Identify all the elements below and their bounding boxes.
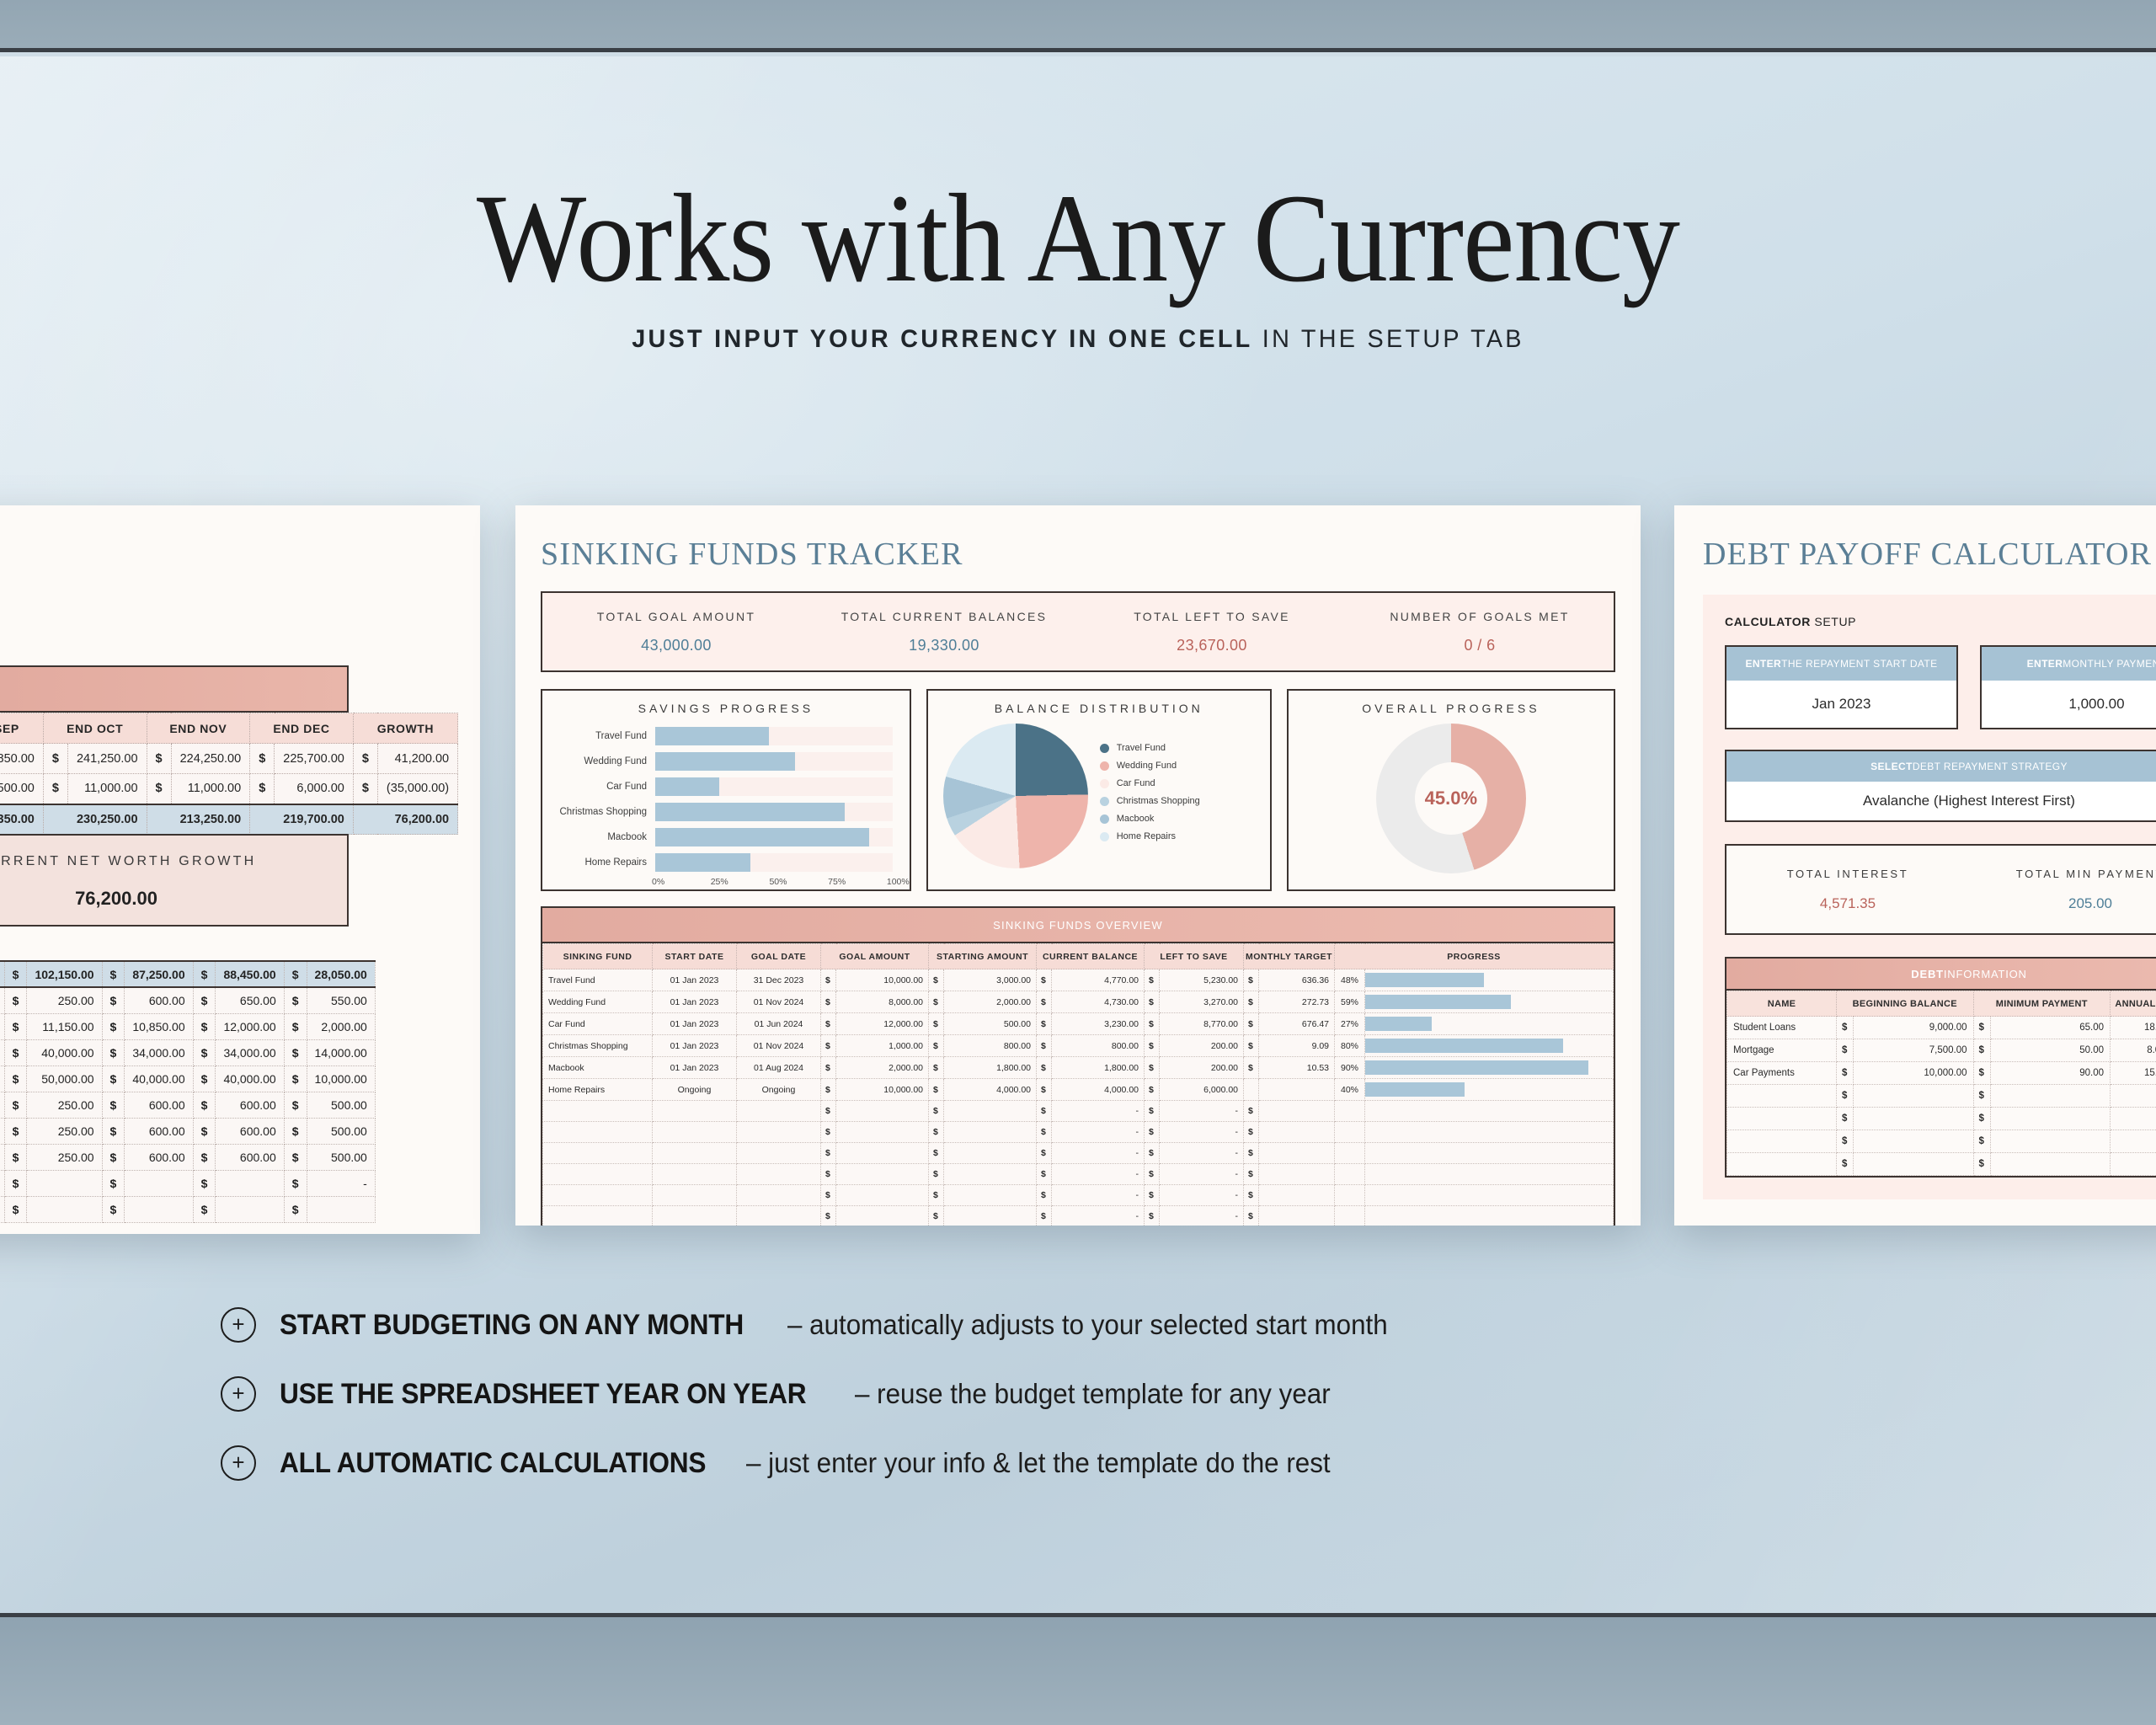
debt-header-row: NAMEBEGINNING BALANCEMINIMUM PAYMENTANNU… [1727,991,2156,1017]
cell-goal-amount: 8,000.00 [836,991,929,1013]
stat-value: 23,670.00 [1078,637,1346,654]
net-worth-growth-box: CURRENT NET WORTH GROWTH 76,200.00 [0,834,349,927]
debt-information-banner: DEBT INFORMATION [1726,959,2156,991]
table-row-empty: $$ [1727,1108,2156,1130]
cell-goal-amount: 1,000.00 [836,1035,929,1057]
table-row-empty: $$$-$-$ [543,1185,1614,1206]
legend-label: Wedding Fund [1117,761,1177,771]
calculator-setup-label: CALCULATOR SETUP [1725,615,2156,628]
column-header: LEFT TO SAVE [1145,944,1244,969]
charts-row: SAVINGS PROGRESS Travel FundWedding Fund… [541,689,1615,891]
cell-start-date: Ongoing [653,1079,737,1101]
bar-fill [655,727,769,745]
cell-name: Car Payments [1727,1062,1837,1085]
bar-label: Macbook [554,832,655,842]
column-header: GROWTH [353,713,457,744]
bar-label: Wedding Fund [554,756,655,766]
stat-label: TOTAL LEFT TO SAVE [1078,610,1346,623]
sinking-funds-panel: SINKING FUNDS TRACKER TOTAL GOAL AMOUNT4… [515,505,1641,1226]
table-row: 00$$$$$- [0,1170,375,1196]
cell-fund: Macbook [543,1057,653,1079]
debt-banner-bold: DEBT [1911,968,1944,980]
cell-start-date: 01 Jan 2023 [653,969,737,991]
cell-monthly: 676.47 [1259,1013,1335,1035]
cell-fund: Home Repairs [543,1079,653,1101]
bar-fill [655,752,795,771]
bar-row: Macbook [554,826,893,848]
bar-fill [655,853,750,872]
bottom-band [0,1613,2156,1725]
strategy-header: SELECT DEBT REPAYMENT STRATEGY [1726,751,2156,782]
field-label: ENTER MONTHLY PAYMENT [1982,647,2156,681]
column-header: ANNUAL INTEREST [2111,991,2156,1017]
page-title: Works with Any Currency [86,175,2069,302]
cell-start-date: 01 Jan 2023 [653,991,737,1013]
cell-current: 1,800.00 [1052,1057,1145,1079]
column-header: PROGRESS [1335,944,1614,969]
table-row: $00$221,850.00$241,250.00$224,250.00$225… [0,744,458,774]
cell-fund: Travel Fund [543,969,653,991]
stat-value: 19,330.00 [810,637,1078,654]
cell-name: Student Loans [1727,1017,1837,1039]
legend-label: Car Fund [1117,778,1155,788]
table-row: 00$38,000.00$40,000.00$34,000.00$34,000.… [0,1039,375,1065]
feature-description: – reuse the budget template for any year [855,1378,1331,1410]
feature-description: – automatically adjusts to your selected… [787,1309,1388,1341]
axis-tick: 75% [828,877,887,887]
bar-track [655,727,893,745]
stat-label: TOTAL GOAL AMOUNT [542,610,810,623]
cell-goal-amount: 2,000.00 [836,1057,929,1079]
cell-progress-bar [1365,969,1614,991]
cell-balance: 7,500.00 [1854,1039,1974,1062]
sinking-funds-stats: TOTAL GOAL AMOUNT43,000.00TOTAL CURRENT … [541,591,1615,672]
field-value[interactable]: 1,000.00 [1982,681,2156,728]
column-header: START DATE [653,944,737,969]
cell-minimum: 50.00 [1990,1039,2111,1062]
cell-progress-bar [1365,1035,1614,1057]
subtitle-rest: IN THE SETUP TAB [1253,325,1524,353]
subtitle-bold: JUST INPUT YOUR CURRENCY IN ONE CELL [632,325,1252,353]
plus-circle-icon: + [221,1307,256,1343]
axis-tick: 50% [769,877,828,887]
debt-totals: TOTAL INTEREST4,571.35TOTAL MIN PAYMENT2… [1725,844,2156,935]
table-row-empty: $$$-$-$ [543,1143,1614,1164]
cell-goal-amount: 12,000.00 [836,1013,929,1035]
cell-progress-pct: 59% [1335,991,1365,1013]
cell-minimum: 90.00 [1990,1062,2111,1085]
cell-name: Mortgage [1727,1039,1837,1062]
cell-goal-date: 01 Aug 2024 [737,1057,821,1079]
cell-goal-date: 31 Dec 2023 [737,969,821,991]
cell-progress-bar [1365,1013,1614,1035]
bar-row: Christmas Shopping [554,801,893,823]
table-row-empty: $$$-$-$ [543,1164,1614,1185]
legend-swatch [1100,744,1109,753]
cell-goal-date: 01 Nov 2024 [737,991,821,1013]
cell-goal-date: 01 Jun 2024 [737,1013,821,1035]
table-row: Macbook01 Jan 202301 Aug 2024$2,000.00$1… [543,1057,1614,1079]
cell-interest: 18.00% [2111,1017,2156,1039]
stat-value: 0 / 6 [1346,637,1614,654]
bar-fill [655,777,719,796]
column-header: STARTING AMOUNT [929,944,1037,969]
table-row-empty: $$ [1727,1153,2156,1176]
table-row-empty: $$ [1727,1130,2156,1153]
stat-card: TOTAL GOAL AMOUNT43,000.00 [542,610,810,654]
cell-current: 3,230.00 [1052,1013,1145,1035]
cell-left: 200.00 [1160,1057,1244,1079]
total-card: TOTAL INTEREST4,571.35 [1726,868,1969,912]
table-row: Mortgage$7,500.00$50.008.00% [1727,1039,2156,1062]
table-row: Christmas Shopping01 Jan 202301 Nov 2024… [543,1035,1614,1057]
total-value: 205.00 [1969,895,2156,912]
growth-value: 76,200.00 [0,888,347,910]
table-row: 00$200.00$250.00$600.00$600.00$500.00 [0,1092,375,1118]
cell-left: 8,770.00 [1160,1013,1244,1035]
cell-fund: Car Fund [543,1013,653,1035]
cell-starting: 2,000.00 [944,991,1037,1013]
bar-track [655,803,893,821]
cell-monthly: 9.09 [1259,1035,1335,1057]
cell-left: 200.00 [1160,1035,1244,1057]
bar-track [655,752,893,771]
cell-monthly: 10.53 [1259,1057,1335,1079]
debt-table: NAMEBEGINNING BALANCEMINIMUM PAYMENTANNU… [1726,991,2156,1176]
cell-progress-pct: 80% [1335,1035,1365,1057]
feature-item: +ALL AUTOMATIC CALCULATIONS– just enter … [221,1445,1989,1481]
cell-balance: 10,000.00 [1854,1062,1974,1085]
debt-banner-rest: INFORMATION [1944,968,2027,980]
table-row-empty: $$$-$-$ [543,1122,1614,1143]
feature-list: +START BUDGETING ON ANY MONTH– automatic… [221,1307,1989,1514]
table-row: Home RepairsOngoingOngoing$10,000.00$4,0… [543,1079,1614,1101]
stat-card: TOTAL LEFT TO SAVE23,670.00 [1078,610,1346,654]
table-row: 00$$$$$ [0,1196,375,1222]
net-worth-table: END SEPEND OCTEND NOVEND DECGROWTH $00$2… [0,713,458,835]
stat-label: NUMBER OF GOALS MET [1346,610,1614,623]
axis-tick: 0% [652,877,711,887]
bar-row: Home Repairs [554,852,893,873]
cell-left: 5,230.00 [1160,969,1244,991]
bar-fill [655,828,869,846]
legend-item: Macbook [1100,814,1200,824]
strategy-value[interactable]: Avalanche (Highest Interest First) ▼ [1726,782,2156,820]
cell-progress-pct: 48% [1335,969,1365,991]
feature-title: START BUDGETING ON ANY MONTH [280,1309,744,1342]
field-label: ENTER THE REPAYMENT START DATE [1726,647,1956,681]
overview-banner: SINKING FUNDS OVERVIEW [542,908,1614,943]
table-row-empty: $$ [1727,1085,2156,1108]
balance-distribution-chart: BALANCE DISTRIBUTION Travel FundWedding … [926,689,1272,891]
stat-card: TOTAL CURRENT BALANCES19,330.00 [810,610,1078,654]
bar-row: Travel Fund [554,725,893,747]
table-row: Car Payments$10,000.00$90.0015.00% [1727,1062,2156,1085]
overview-header-row: SINKING FUNDSTART DATEGOAL DATEGOAL AMOU… [543,944,1614,969]
table-row: Student Loans$9,000.00$65.0018.00% [1727,1017,2156,1039]
table-row: 00$11,050.00$11,150.00$10,850.00$12,000.… [0,1013,375,1039]
cell-starting: 3,000.00 [944,969,1037,991]
legend-label: Macbook [1117,814,1155,824]
cell-progress-pct: 27% [1335,1013,1365,1035]
bar-track [655,853,893,872]
bar-label: Car Fund [554,782,655,792]
column-header: GOAL AMOUNT [821,944,929,969]
bar-track [655,828,893,846]
pie-legend: Travel FundWedding FundCar FundChristmas… [1100,743,1200,849]
field-value[interactable]: Jan 2023 [1726,681,1956,728]
legend-label: Travel Fund [1117,743,1166,753]
legend-swatch [1100,779,1109,788]
plus-circle-icon: + [221,1445,256,1481]
bar-track [655,777,893,796]
table-row: 00$35,000.00$50,000.00$40,000.00$40,000.… [0,1065,375,1092]
axis-tick: 100% [887,877,910,887]
strategy-label-bold: SELECT [1870,761,1913,772]
donut-center-value: 45.0% [1415,762,1487,835]
cell-left: 6,000.00 [1160,1079,1244,1101]
column-header: BEGINNING BALANCE [1837,991,1974,1017]
strategy-select[interactable]: SELECT DEBT REPAYMENT STRATEGY Avalanche… [1725,750,2156,822]
top-band [0,0,2156,52]
table-row: 00$200.00$250.00$600.00$650.00$550.00 [0,987,375,1013]
cell-progress-bar [1365,991,1614,1013]
column-header: CURRENT BALANCE [1037,944,1145,969]
overview-table: SINKING FUNDSTART DATEGOAL DATEGOAL AMOU… [542,943,1614,1226]
savings-progress-chart: SAVINGS PROGRESS Travel FundWedding Fund… [541,689,911,891]
table-row: 00$200.00$250.00$600.00$600.00$500.00 [0,1144,375,1170]
bar-label: Travel Fund [554,731,655,741]
cell-monthly: 272.73 [1259,991,1335,1013]
legend-item: Wedding Fund [1100,761,1200,771]
table-row: Car Fund01 Jan 202301 Jun 2024$12,000.00… [543,1013,1614,1035]
total-card: TOTAL MIN PAYMENT205.00 [1969,868,2156,912]
stat-label: TOTAL CURRENT BALANCES [810,610,1078,623]
sinking-funds-title: SINKING FUNDS TRACKER [541,536,1615,573]
table-row-empty: $$$-$-$ [543,1101,1614,1122]
table-total-row: 00207,350.00230,250.00213,250.00219,700.… [0,804,458,835]
overall-progress-chart: OVERALL PROGRESS 45.0% [1287,689,1615,891]
table-row: Wedding Fund01 Jan 202301 Nov 2024$8,000… [543,991,1614,1013]
growth-label: CURRENT NET WORTH GROWTH [0,854,347,869]
headline-block: Works with Any Currency JUST INPUT YOUR … [0,175,2156,354]
total-label: TOTAL MIN PAYMENT [1969,868,2156,880]
legend-item: Christmas Shopping [1100,796,1200,806]
donut-graphic: 45.0% [1376,724,1526,873]
cell-current: 4,730.00 [1052,991,1145,1013]
column-header: END NOV [147,713,250,744]
page-subtitle: JUST INPUT YOUR CURRENCY IN ONE CELL IN … [43,325,2113,354]
legend-swatch [1100,797,1109,806]
pie-graphic [943,724,1088,868]
setup-label-rest: SETUP [1811,615,1856,628]
legend-swatch [1100,761,1109,771]
cell-left: 3,270.00 [1160,991,1244,1013]
legend-label: Christmas Shopping [1117,796,1200,806]
plus-circle-icon: + [221,1376,256,1412]
input-field[interactable]: ENTER MONTHLY PAYMENT1,000.00 [1980,645,2156,729]
column-header: END DEC [250,713,354,744]
cell-goal-amount: 10,000.00 [836,1079,929,1101]
debt-payoff-title: DEBT PAYOFF CALCULATOR [1703,536,2156,573]
net-worth-banner [0,665,349,713]
debt-information: DEBT INFORMATION NAMEBEGINNING BALANCEMI… [1725,957,2156,1178]
feature-item: +USE THE SPREADSHEET YEAR ON YEAR– reuse… [221,1376,1989,1412]
cell-minimum: 65.00 [1990,1017,2111,1039]
cell-starting: 500.00 [944,1013,1037,1035]
total-value: 4,571.35 [1726,895,1969,912]
legend-item: Car Fund [1100,778,1200,788]
panels-row: END SEPEND OCTEND NOVEND DECGROWTH $00$2… [0,505,2156,1230]
feature-description: – just enter your info & let the templat… [746,1447,1331,1479]
strategy-label-rest: DEBT REPAYMENT STRATEGY [1913,761,2068,772]
legend-swatch [1100,832,1109,841]
cell-monthly: 636.36 [1259,969,1335,991]
cell-current: 4,000.00 [1052,1079,1145,1101]
cell-fund: Wedding Fund [543,991,653,1013]
feature-title: USE THE SPREADSHEET YEAR ON YEAR [280,1378,806,1411]
calculator-setup: CALCULATOR SETUP ENTER THE REPAYMENT STA… [1703,595,2156,1199]
cell-goal-amount: 10,000.00 [836,969,929,991]
cell-goal-date: 01 Nov 2024 [737,1035,821,1057]
legend-item: Travel Fund [1100,743,1200,753]
cell-interest: 15.00% [2111,1062,2156,1085]
balance-distribution-title: BALANCE DISTRIBUTION [928,691,1270,715]
setup-label-bold: CALCULATOR [1725,615,1811,628]
bar-row: Wedding Fund [554,750,893,772]
column-header: GOAL DATE [737,944,821,969]
bar-fill [655,803,845,821]
cell-starting: 4,000.00 [944,1079,1037,1101]
total-label: TOTAL INTEREST [1726,868,1969,880]
bar-row: Car Fund [554,776,893,798]
cell-goal-date: Ongoing [737,1079,821,1101]
column-header: END SEP [0,713,43,744]
net-worth-panel: END SEPEND OCTEND NOVEND DECGROWTH $00$2… [0,505,480,1234]
legend-swatch [1100,814,1109,824]
bar-label: Christmas Shopping [554,807,655,817]
table-row: $00$14,500.00$11,000.00$11,000.00$6,000.… [0,774,458,804]
column-header: SINKING FUND [543,944,653,969]
bar-label: Home Repairs [554,857,655,868]
net-worth-detail-table: 00$84,850.00$102,150.00$87,250.00$88,450… [0,960,376,1223]
cell-progress-bar [1365,1057,1614,1079]
cell-fund: Christmas Shopping [543,1035,653,1057]
overall-progress-title: OVERALL PROGRESS [1289,691,1614,715]
cell-balance: 9,000.00 [1854,1017,1974,1039]
column-header: MINIMUM PAYMENT [1973,991,2111,1017]
input-field[interactable]: ENTER THE REPAYMENT START DATEJan 2023 [1725,645,1958,729]
cell-interest: 8.00% [2111,1039,2156,1062]
table-highlight-row: 00$84,850.00$102,150.00$87,250.00$88,450… [0,961,375,987]
cell-monthly [1259,1079,1335,1101]
column-header: MONTHLY TARGET [1244,944,1335,969]
feature-title: ALL AUTOMATIC CALCULATIONS [280,1447,706,1480]
cell-start-date: 01 Jan 2023 [653,1057,737,1079]
table-row: Travel Fund01 Jan 202331 Dec 2023$10,000… [543,969,1614,991]
table-row-empty: $$$-$-$ [543,1206,1614,1226]
column-header: END OCT [43,713,147,744]
stat-card: NUMBER OF GOALS MET0 / 6 [1346,610,1614,654]
debt-payoff-panel: DEBT PAYOFF CALCULATOR CALCULATOR SETUP … [1674,505,2156,1226]
strategy-selected-option: Avalanche (Highest Interest First) [1863,793,2075,809]
cell-starting: 800.00 [944,1035,1037,1057]
cell-start-date: 01 Jan 2023 [653,1013,737,1035]
cell-current: 4,770.00 [1052,969,1145,991]
cell-progress-pct: 40% [1335,1079,1365,1101]
feature-item: +START BUDGETING ON ANY MONTH– automatic… [221,1307,1989,1343]
column-header: NAME [1727,991,1837,1017]
savings-progress-title: SAVINGS PROGRESS [542,691,910,715]
table-header-row: END SEPEND OCTEND NOVEND DECGROWTH [0,713,458,744]
table-row: 00$200.00$250.00$600.00$600.00$500.00 [0,1118,375,1144]
legend-label: Home Repairs [1117,831,1176,841]
legend-item: Home Repairs [1100,831,1200,841]
cell-start-date: 01 Jan 2023 [653,1035,737,1057]
cell-progress-pct: 90% [1335,1057,1365,1079]
stat-value: 43,000.00 [542,637,810,654]
cell-starting: 1,800.00 [944,1057,1037,1079]
cell-progress-bar [1365,1079,1614,1101]
cell-current: 800.00 [1052,1035,1145,1057]
sinking-funds-overview: SINKING FUNDS OVERVIEW SINKING FUNDSTART… [541,906,1615,1226]
axis-tick: 25% [711,877,770,887]
